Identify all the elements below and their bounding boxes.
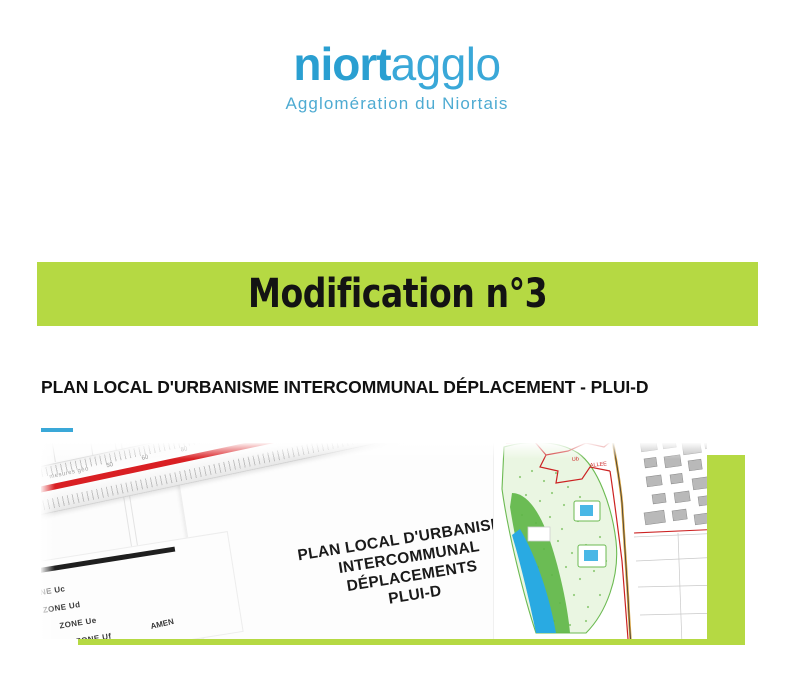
legend-item: ZONE Uf (75, 632, 112, 639)
logo-word-agglo: agglo (391, 38, 501, 90)
organization-logo: niortagglo Agglomération du Niortais (0, 38, 794, 115)
logo-tagline: Agglomération du Niortais (0, 93, 794, 115)
page-title-text: PLAN LOCAL D'URBANISME INTERCOMMUNAL DÉP… (41, 377, 648, 397)
hero-accent-bar-right (707, 455, 745, 641)
ruler-number: 100 (219, 443, 230, 445)
legend-item: ZONE Ue (59, 616, 97, 631)
legend-item: ZONE Uc (41, 584, 66, 599)
ruler-number: 60 (141, 455, 149, 462)
ruler-number: 80 (180, 446, 188, 453)
document-page: niortagglo Agglomération du Niortais Mod… (0, 0, 794, 677)
legend-extra-label: AMEN (150, 617, 175, 631)
ruler-number: 50 (106, 462, 114, 469)
title-accent-rule (41, 428, 73, 432)
svg-text:Ub: Ub (572, 456, 580, 463)
modification-banner: Modification n°3 (37, 262, 758, 326)
page-title: PLAN LOCAL D'URBANISME INTERCOMMUNAL DÉP… (41, 376, 741, 398)
logo-word-niort: niort (293, 38, 390, 90)
cadastral-map-svg: Ub ALLEE (494, 443, 707, 639)
modification-banner-text: Modification n°3 (248, 272, 547, 316)
hero-photo: RUE D'AURIOL PLAN LOCAL D'URBANISME INTE… (41, 443, 707, 639)
logo-wordmark: niortagglo (0, 38, 794, 90)
legend-item: ZONE Ud (42, 600, 81, 615)
cadastral-map: Ub ALLEE (493, 443, 707, 639)
